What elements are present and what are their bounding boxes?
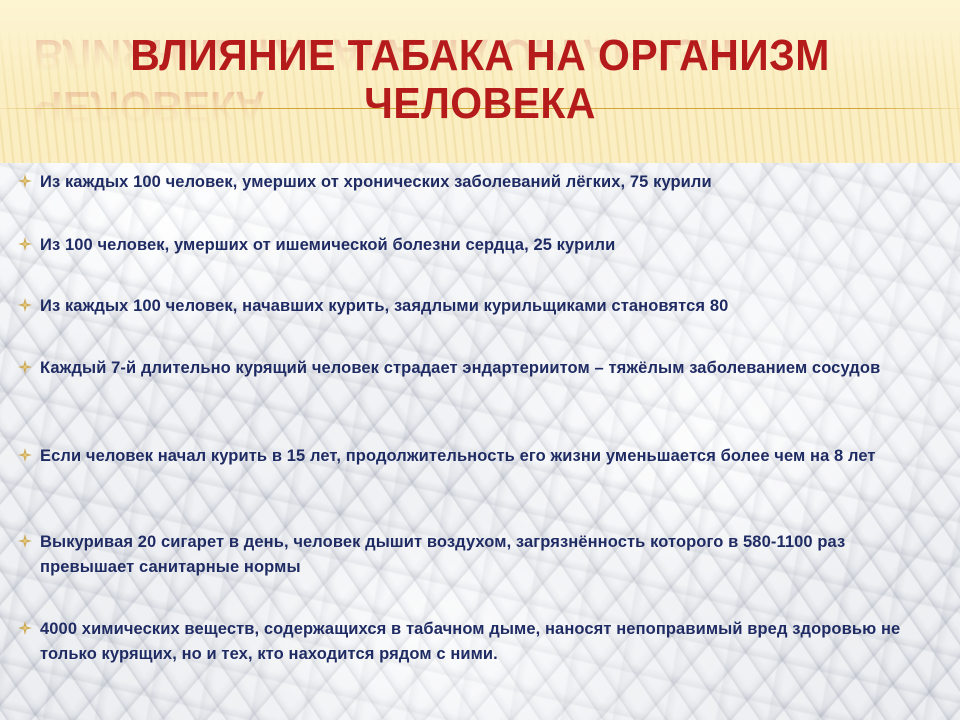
list-item: Если человек начал курить в 15 лет, прод… [10, 444, 940, 469]
list-item: Из каждых 100 человек, начавших курить, … [10, 294, 940, 319]
list-item: Каждый 7-й длительно курящий человек стр… [10, 356, 940, 381]
list-item-text: 4000 химических веществ, содержащихся в … [40, 617, 940, 667]
slide-title-line-1: ВЛИЯНИЕ ТАБАКА НА ОРГАНИЗМ [34, 34, 927, 78]
list-item-text: Каждый 7-й длительно курящий человек стр… [40, 356, 940, 381]
presentation-slide: ВЛИЯНИЕ ТАБАКА НА ОРГАНИЗМ ЧЕЛОВЕКА ВЛИЯ… [0, 0, 960, 720]
four-point-star-icon [10, 447, 40, 469]
four-point-star-icon [10, 620, 40, 642]
four-point-star-icon [10, 297, 40, 319]
list-item-text: Выкуривая 20 сигарет в день, человек дыш… [40, 530, 940, 580]
four-point-star-icon [10, 533, 40, 555]
slide-title: ВЛИЯНИЕ ТАБАКА НА ОРГАНИЗМ ЧЕЛОВЕКА [0, 34, 960, 126]
four-point-star-icon [10, 359, 40, 381]
list-item: Из 100 человек, умерших от ишемической б… [10, 233, 940, 258]
bullet-list: Из каждых 100 человек, умерших от хронич… [0, 163, 960, 720]
slide-title-line-2: ЧЕЛОВЕКА [34, 82, 927, 126]
list-item: Из каждых 100 человек, умерших от хронич… [10, 170, 940, 195]
list-item: Выкуривая 20 сигарет в день, человек дыш… [10, 530, 940, 580]
list-item: 4000 химических веществ, содержащихся в … [10, 617, 940, 667]
list-item-text: Из каждых 100 человек, начавших курить, … [40, 294, 940, 319]
four-point-star-icon [10, 236, 40, 258]
list-item-text: Из каждых 100 человек, умерших от хронич… [40, 170, 940, 195]
slide-header-band: ВЛИЯНИЕ ТАБАКА НА ОРГАНИЗМ ЧЕЛОВЕКА ВЛИЯ… [0, 0, 960, 163]
list-item-text: Из 100 человек, умерших от ишемической б… [40, 233, 940, 258]
four-point-star-icon [10, 173, 40, 195]
list-item-text: Если человек начал курить в 15 лет, прод… [40, 444, 940, 469]
